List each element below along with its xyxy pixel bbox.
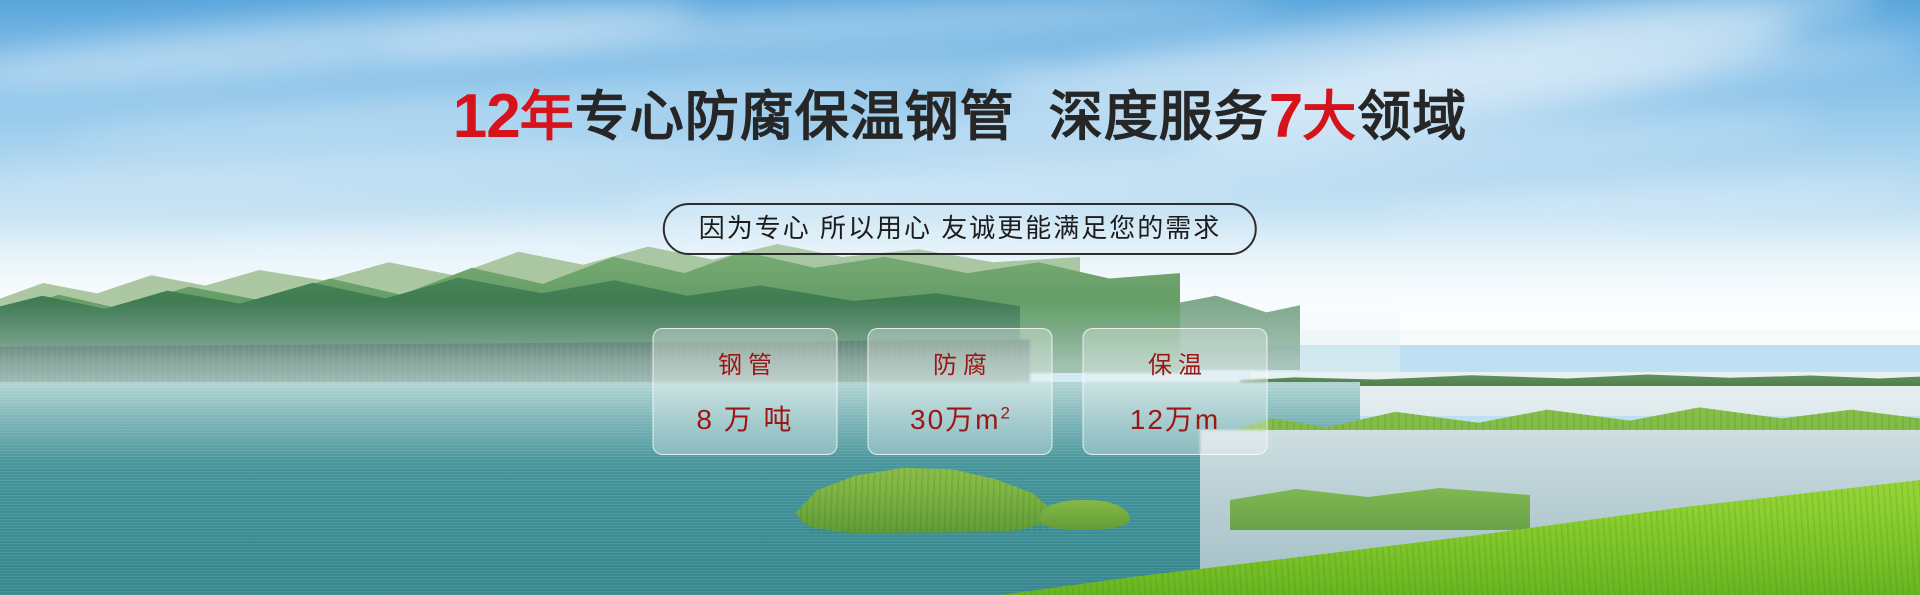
headline-fields-tail: 领域 [1357,86,1467,148]
banner-headline: 12年专心防腐保温钢管深度服务7大领域 [0,86,1920,148]
stat-card-steel-pipe[interactable]: 钢管 8 万 吨 [653,328,838,455]
stat-card-value: 8 万 吨 [696,398,793,438]
stat-card-anticorrosion[interactable]: 防腐 30万m2 [868,328,1053,455]
stat-card-value-text: 30万m [910,404,1000,435]
headline-years-unit: 年 [520,86,575,148]
small-island [1040,500,1130,530]
banner-subtitle-pill: 因为专心 所以用心 友诚更能满足您的需求 [663,203,1257,255]
headline-fields-number: 7 [1269,86,1302,148]
stat-card-label: 钢管 [712,345,778,380]
headline-main-text: 专心防腐保温钢管 [575,86,1015,148]
stat-card-value-text: 8 万 吨 [696,404,793,435]
stat-card-value: 30万m2 [910,398,1010,438]
stat-card-value-superscript: 2 [1001,404,1010,423]
stat-card-value: 12万m [1130,398,1220,438]
stat-card-value-text: 12万m [1130,404,1220,435]
stat-card-label: 防腐 [927,345,993,380]
headline-years-number: 12 [453,86,520,148]
stat-card-group: 钢管 8 万 吨 防腐 30万m2 保温 12万m [653,328,1268,455]
hero-banner: 12年专心防腐保温钢管深度服务7大领域 因为专心 所以用心 友诚更能满足您的需求… [0,0,1920,595]
stat-card-label: 保温 [1142,345,1208,380]
stat-card-insulation[interactable]: 保温 12万m [1083,328,1268,455]
headline-service-text: 深度服务 [1049,86,1269,148]
headline-fields-unit: 大 [1302,86,1357,148]
